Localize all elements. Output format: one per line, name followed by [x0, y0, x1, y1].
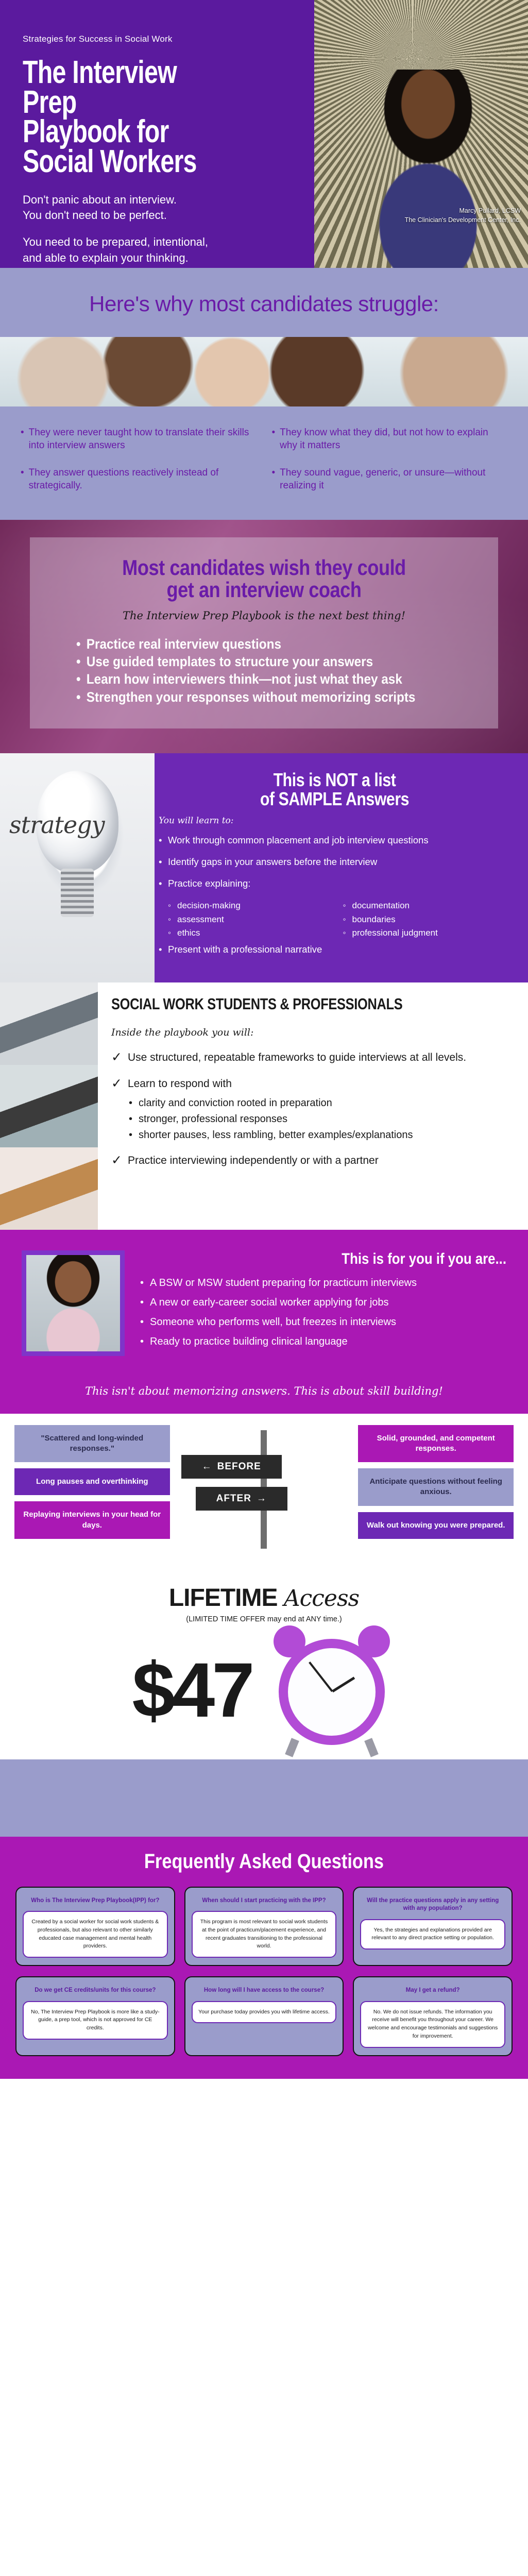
after-sign-label: AFTER: [216, 1493, 251, 1504]
after-column: Solid, grounded, and competent responses…: [358, 1425, 514, 1539]
practice-explaining-grid: decision-making documentation assessment…: [168, 899, 510, 940]
coach-bullet: Learn how interviewers think—not just wh…: [76, 671, 435, 687]
author-org: The Clinician's Development Center, Inc.: [405, 215, 521, 225]
interview-photo-1: [0, 982, 98, 1065]
clock-foot-right: [364, 1738, 379, 1757]
inside-playbook-section: SOCIAL WORK STUDENTS & PROFESSIONALS Ins…: [0, 982, 528, 1230]
before-sign: ← BEFORE: [181, 1455, 282, 1479]
lifetime-label: LIFETIME: [169, 1584, 278, 1612]
for-you-bullet: A new or early-career social worker appl…: [140, 1296, 506, 1309]
sub-item: professional judgment: [343, 926, 511, 940]
faq-question: Who is The Interview Prep Playbook(IPP) …: [23, 1895, 168, 1911]
after-sign: AFTER →: [196, 1487, 287, 1511]
coach-heading: Most candidates wish they could get an i…: [83, 557, 445, 601]
struggle-bullet-text: They know what they did, but not how to …: [280, 426, 507, 452]
struggle-heading: Here's why most candidates struggle:: [0, 292, 528, 316]
after-item: Anticipate questions without feeling anx…: [358, 1468, 514, 1506]
signpost: ← BEFORE AFTER →: [177, 1425, 351, 1554]
hero-section: Strategies for Success in Social Work Th…: [0, 0, 528, 268]
faq-card[interactable]: When should I start practicing with the …: [184, 1887, 344, 1967]
for-you-note: This isn't about memorizing answers. Thi…: [22, 1371, 506, 1401]
inside-sub-bullet: stronger, professional responses: [129, 1112, 510, 1126]
inside-check-text: Practice interviewing independently or w…: [128, 1154, 379, 1168]
before-after-section: "Scattered and long-winded responses." L…: [0, 1414, 528, 1570]
faq-question: When should I start practicing with the …: [192, 1895, 337, 1911]
check-icon: ✓: [111, 1077, 122, 1091]
before-item: Replaying interviews in your head for da…: [14, 1501, 170, 1539]
coach-bullet: Practice real interview questions: [76, 636, 435, 652]
inside-check-row: ✓ Learn to respond with: [111, 1077, 510, 1091]
faq-heading: Frequently Asked Questions: [50, 1850, 478, 1873]
coach-script-line: The Interview Prep Playbook is the next …: [54, 609, 474, 622]
check-icon: ✓: [111, 1154, 122, 1168]
bullet-dot-icon: •: [21, 466, 24, 492]
inside-check-text: Use structured, repeatable frameworks to…: [128, 1050, 466, 1065]
coach-panel: Most candidates wish they could get an i…: [30, 537, 498, 728]
inside-script: Inside the playbook you will:: [111, 1027, 510, 1038]
hero-left-column: Strategies for Success in Social Work Th…: [0, 0, 314, 268]
faq-answer: No, The Interview Prep Playbook is more …: [23, 2001, 168, 2040]
not-sample-list: Work through common placement and job in…: [159, 834, 510, 890]
faq-question: Do we get CE credits/units for this cour…: [23, 1985, 168, 2001]
after-item: Solid, grounded, and competent responses…: [358, 1425, 514, 1463]
inside-heading: SOCIAL WORK STUDENTS & PROFESSIONALS: [111, 995, 439, 1013]
alarm-clock-icon: [267, 1625, 396, 1754]
limited-offer-note: (LIMITED TIME OFFER may end at ANY time.…: [0, 1615, 528, 1623]
not-sample-bullet: Practice explaining:: [159, 877, 510, 890]
struggle-bullet-text: They sound vague, generic, or unsure—wit…: [280, 466, 507, 492]
for-you-heading: This is for you if you are...: [192, 1250, 506, 1268]
faq-card[interactable]: Will the practice questions apply in any…: [353, 1887, 513, 1967]
inside-photo-strip: [0, 982, 98, 1230]
for-you-photo: [22, 1250, 125, 1356]
students-photo: [0, 337, 528, 406]
faq-grid: Who is The Interview Prep Playbook(IPP) …: [15, 1887, 513, 2056]
struggle-bullet: •They were never taught how to translate…: [21, 421, 257, 459]
faq-top-band: [0, 1759, 528, 1837]
struggle-bullet-text: They answer questions reactively instead…: [29, 466, 257, 492]
struggle-bullet: •They sound vague, generic, or unsure—wi…: [272, 461, 508, 499]
hero-credit: Marcy Pullard, LCSW The Clinician's Deve…: [405, 206, 521, 225]
faq-answer: Created by a social worker for social wo…: [23, 1911, 168, 1958]
faq-section: Frequently Asked Questions Who is The In…: [0, 1837, 528, 2079]
faq-card[interactable]: Who is The Interview Prep Playbook(IPP) …: [15, 1887, 175, 1967]
for-you-section: This is for you if you are... A BSW or M…: [0, 1230, 528, 1371]
hero-kicker: Strategies for Success in Social Work: [23, 34, 294, 44]
for-you-note-wrap: This isn't about memorizing answers. Thi…: [0, 1371, 528, 1414]
access-label: Access: [284, 1585, 359, 1612]
interview-photo-2: [0, 1065, 98, 1147]
coach-bullet: Strengthen your responses without memori…: [76, 689, 435, 705]
sub-item: documentation: [343, 899, 511, 912]
sub-item: ethics: [168, 926, 336, 940]
hero-photo: Marcy Pullard, LCSW The Clinician's Deve…: [314, 0, 528, 268]
bulb-base: [61, 869, 94, 917]
bulb-word: strategy: [9, 811, 105, 839]
hero-subtitle-1: Don't panic about an interview. You don'…: [23, 192, 294, 224]
faq-question: May I get a refund?: [360, 1985, 505, 2001]
not-sample-list-last: Present with a professional narrative: [159, 943, 510, 956]
faq-answer: Yes, the strategies and explanations pro…: [360, 1919, 505, 1950]
inside-sub-bullet: shorter pauses, less rambling, better ex…: [129, 1128, 510, 1142]
before-item: "Scattered and long-winded responses.": [14, 1425, 170, 1463]
faq-card[interactable]: How long will I have access to the cours…: [184, 1976, 344, 2056]
inside-check-text: Learn to respond with: [128, 1077, 232, 1091]
struggle-section: Here's why most candidates struggle: •Th…: [0, 268, 528, 520]
not-sample-bullet: Identify gaps in your answers before the…: [159, 856, 510, 868]
faq-card[interactable]: Do we get CE credits/units for this cour…: [15, 1976, 175, 2056]
price-row: $47: [0, 1625, 528, 1754]
inside-check-row: ✓ Use structured, repeatable frameworks …: [111, 1050, 510, 1065]
arrow-right-icon: →: [257, 1493, 267, 1504]
before-sign-label: BEFORE: [217, 1461, 261, 1472]
price-amount: $47: [132, 1651, 251, 1728]
faq-answer: No. We do not issue refunds. The informa…: [360, 2001, 505, 2048]
not-sample-bullet: Present with a professional narrative: [159, 943, 510, 956]
price-section: LIFETIME Access (LIMITED TIME OFFER may …: [0, 1570, 528, 1759]
struggle-bullet-text: They were never taught how to translate …: [29, 426, 257, 452]
faq-answer: This program is most relevant to social …: [192, 1911, 337, 1958]
hero-subtitle-2: You need to be prepared, intentional, an…: [23, 234, 294, 266]
struggle-heading-wrap: Here's why most candidates struggle:: [0, 268, 528, 337]
not-sample-section: strategy This is NOT a list of SAMPLE An…: [0, 753, 528, 982]
page-title: The Interview Prep Playbook for Social W…: [23, 58, 234, 177]
lightbulb-icon: strategy: [0, 753, 155, 982]
sub-item: assessment: [168, 913, 336, 926]
not-sample-script: You will learn to:: [159, 816, 510, 826]
inside-sub-bullet: clarity and conviction rooted in prepara…: [129, 1096, 510, 1110]
inside-sub-list: clarity and conviction rooted in prepara…: [129, 1096, 510, 1142]
coach-bullet-list: Practice real interview questions Use gu…: [54, 636, 474, 705]
hero-portrait: [351, 70, 505, 268]
sub-item: decision-making: [168, 899, 336, 912]
faq-question: Will the practice questions apply in any…: [360, 1895, 505, 1919]
not-sample-heading: This is NOT a list of SAMPLE Answers: [187, 771, 483, 808]
check-icon: ✓: [111, 1050, 122, 1065]
arrow-left-icon: ←: [202, 1461, 212, 1472]
not-sample-bullet: Work through common placement and job in…: [159, 834, 510, 846]
bullet-dot-icon: •: [272, 426, 276, 452]
author-name: Marcy Pullard, LCSW: [405, 206, 521, 215]
for-you-bullet: Ready to practice building clinical lang…: [140, 1335, 506, 1348]
struggle-bullet: •They know what they did, but not how to…: [272, 421, 508, 459]
interview-photo-3: [0, 1147, 98, 1230]
bullet-dot-icon: •: [272, 466, 276, 492]
before-item: Long pauses and overthinking: [14, 1468, 170, 1495]
not-sample-body: This is NOT a list of SAMPLE Answers You…: [155, 753, 528, 982]
for-you-body: This is for you if you are... A BSW or M…: [140, 1250, 506, 1356]
inside-body: SOCIAL WORK STUDENTS & PROFESSIONALS Ins…: [98, 982, 528, 1230]
bullet-dot-icon: •: [21, 426, 24, 452]
after-item: Walk out knowing you were prepared.: [358, 1512, 514, 1539]
inside-check-row: ✓ Practice interviewing independently or…: [111, 1154, 510, 1168]
faq-card[interactable]: May I get a refund? No. We do not issue …: [353, 1976, 513, 2056]
for-you-bullet: Someone who performs well, but freezes i…: [140, 1315, 506, 1329]
before-column: "Scattered and long-winded responses." L…: [14, 1425, 170, 1539]
coach-section: Most candidates wish they could get an i…: [0, 520, 528, 753]
clock-foot-left: [285, 1738, 299, 1757]
for-you-bullet: A BSW or MSW student preparing for pract…: [140, 1276, 506, 1290]
struggle-bullet-grid: •They were never taught how to translate…: [0, 406, 528, 520]
coach-bullet: Use guided templates to structure your a…: [76, 654, 435, 669]
struggle-bullet: •They answer questions reactively instea…: [21, 461, 257, 499]
price-heading: LIFETIME Access: [0, 1584, 528, 1612]
for-you-list: A BSW or MSW student preparing for pract…: [140, 1276, 506, 1348]
sub-item: boundaries: [343, 913, 511, 926]
faq-answer: Your purchase today provides you with li…: [192, 2001, 337, 2024]
faq-question: How long will I have access to the cours…: [192, 1985, 337, 2001]
infographic-page: Strategies for Success in Social Work Th…: [0, 0, 528, 2079]
